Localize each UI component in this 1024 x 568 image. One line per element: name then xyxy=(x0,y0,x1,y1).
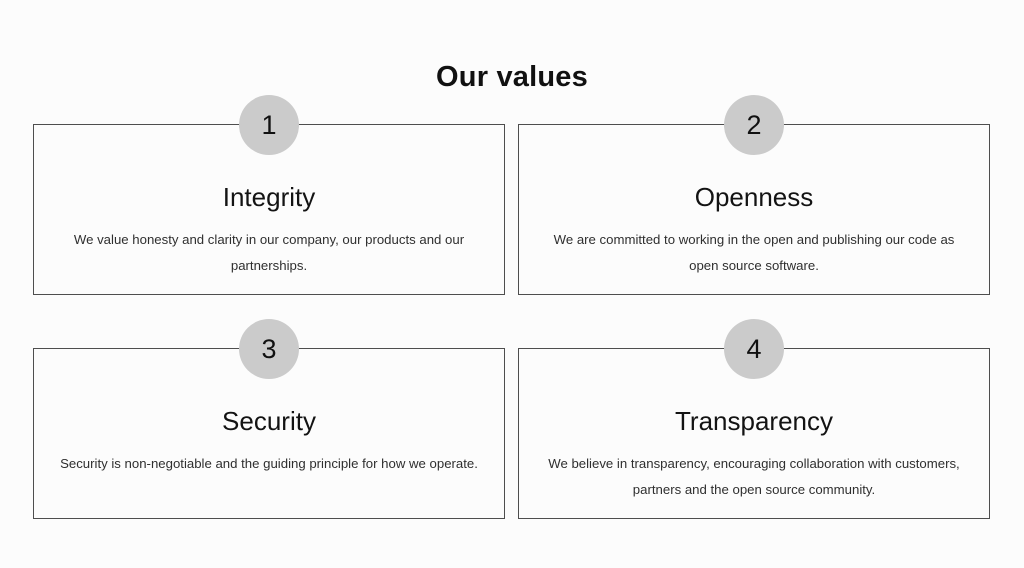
value-card-integrity: 1 Integrity We value honesty and clarity… xyxy=(33,124,505,295)
value-card-security: 3 Security Security is non-negotiable an… xyxy=(33,348,505,519)
value-card-openness: 2 Openness We are committed to working i… xyxy=(518,124,990,295)
value-heading: Openness xyxy=(519,182,989,212)
value-number-badge: 4 xyxy=(724,319,784,379)
value-card-transparency: 4 Transparency We believe in transparenc… xyxy=(518,348,990,519)
values-page: Our values 1 Integrity We value honesty … xyxy=(0,0,1024,568)
value-body-text: Security is non-negotiable and the guidi… xyxy=(34,451,504,477)
value-number-badge: 1 xyxy=(239,95,299,155)
value-body-text: We are committed to working in the open … xyxy=(519,227,989,279)
value-heading: Integrity xyxy=(34,182,504,212)
value-heading: Security xyxy=(34,406,504,436)
page-title: Our values xyxy=(0,59,1024,95)
values-grid: 1 Integrity We value honesty and clarity… xyxy=(33,124,990,519)
value-body-text: We believe in transparency, encouraging … xyxy=(519,451,989,503)
value-body-text: We value honesty and clarity in our comp… xyxy=(34,227,504,279)
value-number-badge: 2 xyxy=(724,95,784,155)
value-number-badge: 3 xyxy=(239,319,299,379)
value-heading: Transparency xyxy=(519,406,989,436)
